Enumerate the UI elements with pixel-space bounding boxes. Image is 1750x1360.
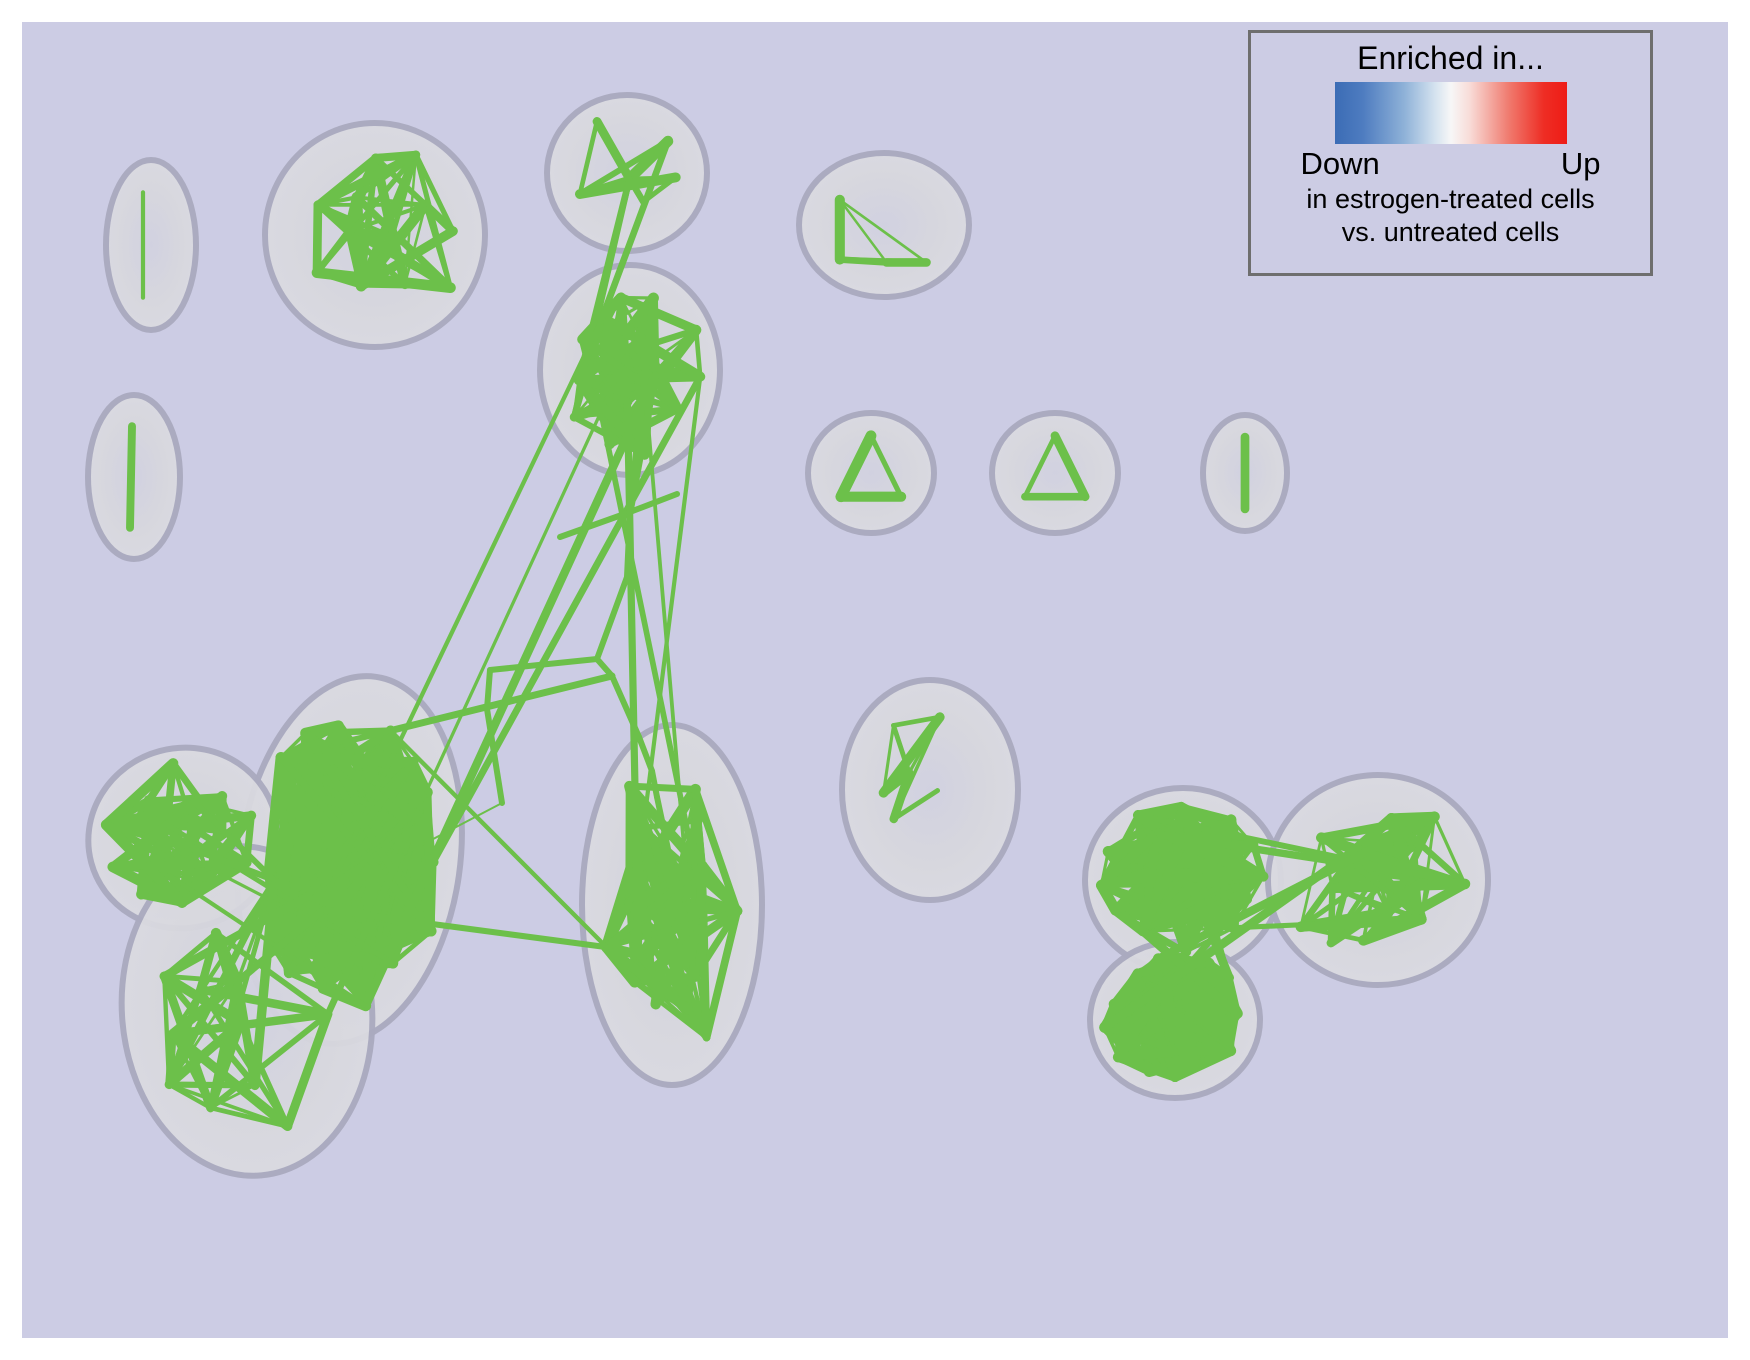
legend-colorbar: [1335, 82, 1567, 144]
legend-down-label: Down: [1301, 146, 1380, 182]
network-edge: [629, 786, 695, 789]
cluster-hull-cofactor_metabolism: [799, 153, 969, 297]
legend-subtitle-line1: in estrogen-treated cells: [1306, 184, 1594, 215]
network-edge: [130, 426, 132, 528]
cluster-hull-tight_junctions: [992, 413, 1118, 533]
network-edge: [597, 577, 627, 659]
network-edge: [627, 512, 630, 577]
legend-title: Enriched in...: [1357, 41, 1544, 76]
network-edge: [411, 298, 653, 825]
legend-subtitle-line2: vs. untreated cells: [1342, 217, 1560, 248]
figure-canvas: Enriched in... Down Up in estrogen-treat…: [0, 0, 1750, 1360]
legend-up-label: Up: [1561, 146, 1601, 182]
cluster-hull-protein_folding: [106, 160, 196, 330]
legend: Enriched in... Down Up in estrogen-treat…: [1248, 30, 1653, 276]
network-edge: [317, 205, 318, 273]
legend-endpoints: Down Up: [1301, 146, 1601, 182]
cluster-hull-dna_metabolism: [842, 680, 1018, 900]
